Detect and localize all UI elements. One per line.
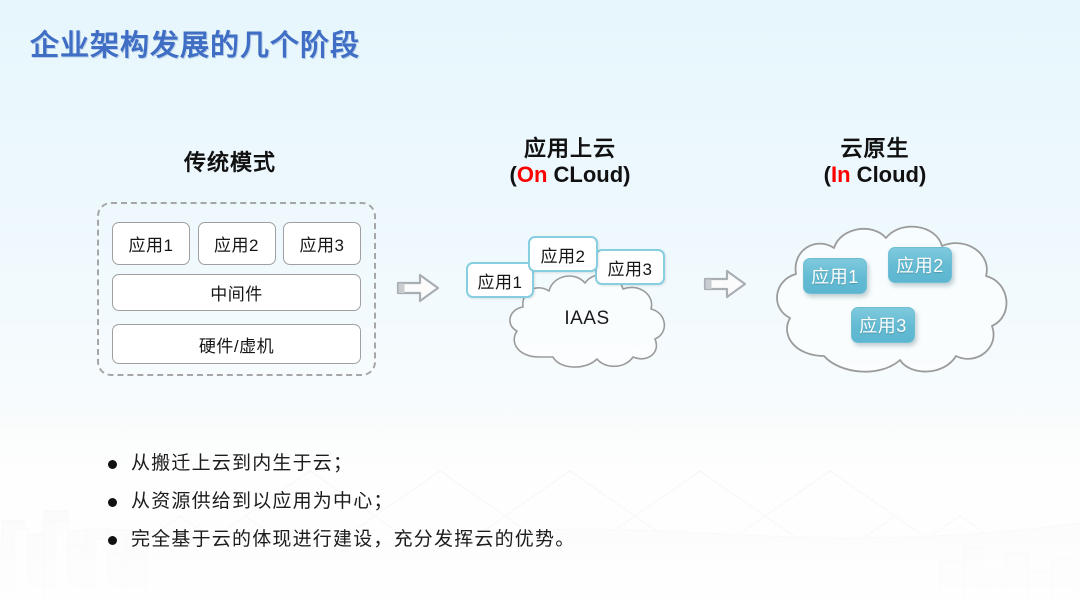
- cloud-label-iaas: IAAS: [497, 308, 677, 330]
- bullet-text-2: 从资源供给到以应用为中心；: [131, 490, 394, 514]
- traditional-app-box-1[interactable]: 应用1: [112, 222, 190, 265]
- traditional-middleware-box[interactable]: 中间件: [112, 274, 361, 311]
- oncloud-app-box-3[interactable]: 应用3: [595, 249, 665, 285]
- stage-heading-incloud: 云原生 (In Cloud): [760, 136, 990, 188]
- traditional-app-box-3[interactable]: 应用3: [283, 222, 361, 265]
- oncloud-en-rest: CLoud): [547, 162, 630, 187]
- oncloud-app-box-1[interactable]: 应用1: [466, 262, 534, 298]
- bullet-text-3: 完全基于云的体现进行建设，充分发挥云的优势。: [131, 528, 575, 552]
- incloud-app-box-2[interactable]: 应用2: [888, 247, 952, 283]
- list-item: 从资源供给到以应用为中心；: [108, 490, 808, 514]
- bullet-dot-icon: [108, 498, 117, 507]
- slide-canvas: 企业架构发展的几个阶段 传统模式 应用1 应用2 应用3 中间件 硬件/虚机 应…: [0, 0, 1080, 601]
- bullet-list: 从搬迁上云到内生于云； 从资源供给到以应用为中心； 完全基于云的体现进行建设，充…: [108, 452, 808, 565]
- bullet-dot-icon: [108, 536, 117, 545]
- incloud-highlight-word: In: [831, 162, 851, 187]
- oncloud-paren-open: (: [510, 162, 517, 187]
- incloud-paren-open: (: [824, 162, 831, 187]
- traditional-app-row: 应用1 应用2 应用3: [112, 222, 361, 265]
- traditional-app-box-2[interactable]: 应用2: [198, 222, 276, 265]
- incloud-app-box-1[interactable]: 应用1: [803, 258, 867, 294]
- list-item: 从搬迁上云到内生于云；: [108, 452, 808, 476]
- stage-heading-traditional: 传统模式: [95, 150, 365, 176]
- oncloud-highlight-word: On: [517, 162, 548, 187]
- incloud-app-box-3[interactable]: 应用3: [851, 307, 915, 343]
- stage-heading-traditional-cn: 传统模式: [95, 150, 365, 176]
- stage-heading-incloud-en: (In Cloud): [760, 162, 990, 188]
- traditional-hardware-box[interactable]: 硬件/虚机: [112, 324, 361, 364]
- stage-heading-oncloud-cn: 应用上云: [450, 136, 690, 162]
- arrow-right-icon-1: [396, 272, 440, 304]
- arrow-right-icon-2: [703, 268, 747, 300]
- incloud-en-rest: Cloud): [851, 162, 927, 187]
- cloud-shape-native: [762, 222, 1018, 382]
- stage-heading-oncloud: 应用上云 (On CLoud): [450, 136, 690, 188]
- list-item: 完全基于云的体现进行建设，充分发挥云的优势。: [108, 528, 808, 552]
- bullet-text-1: 从搬迁上云到内生于云；: [131, 452, 353, 476]
- page-title: 企业架构发展的几个阶段: [30, 22, 360, 64]
- stage-heading-oncloud-en: (On CLoud): [450, 162, 690, 188]
- oncloud-app-box-2[interactable]: 应用2: [528, 236, 598, 272]
- bullet-dot-icon: [108, 460, 117, 469]
- stage-heading-incloud-cn: 云原生: [760, 136, 990, 162]
